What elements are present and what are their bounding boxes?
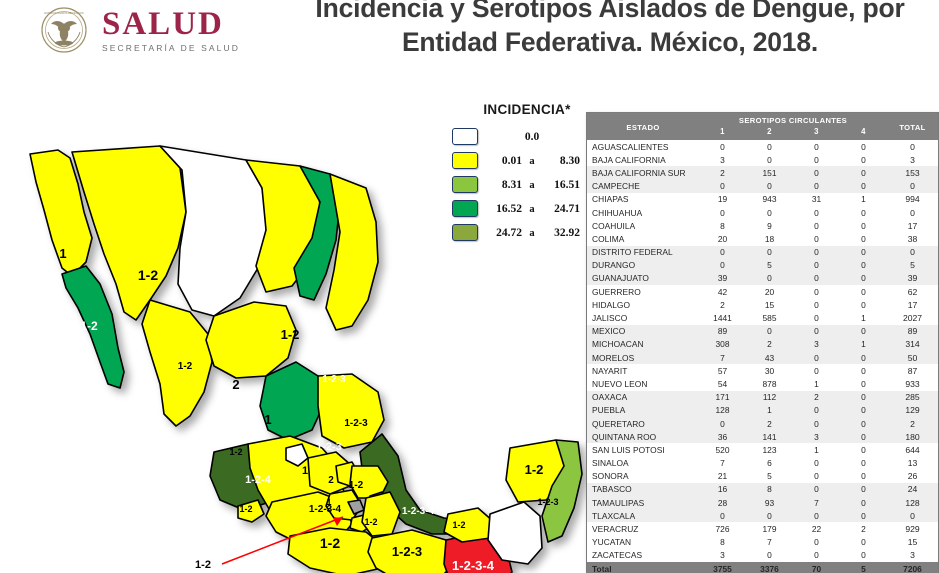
table-row[interactable]: COLIMA20180038 [587,232,938,245]
cell-serotype-1: 8 [699,536,746,549]
cell-estado: TAMAULIPAS [587,496,699,509]
cell-estado: QUERETARO [587,417,699,430]
legend-row: 0.0 [452,125,584,148]
table-row[interactable]: SINALOA760013 [587,457,938,470]
map-state-serotype-label: 1-2-3-4 [309,504,342,515]
cell-estado: VERACRUZ [587,522,699,535]
cell-serotype-3: 22 [793,522,840,535]
cell-serotype-1: 20 [699,232,746,245]
cell-total: 3 [887,153,938,166]
cell-estado: TLAXCALA [587,509,699,522]
map-state-serotype-label: 1-2-3-4 [402,506,435,517]
cell-serotype-1: 520 [699,443,746,456]
cell-serotype-3: 0 [793,536,840,549]
cell-serotype-4: 0 [840,536,887,549]
cell-serotype-2: 112 [746,391,793,404]
legend-range-low: 16.52 [484,203,522,215]
cell-serotype-4: 0 [840,391,887,404]
legend-range-high: 32.92 [542,227,580,239]
legend-range-labels: 8.31a16.51 [484,179,582,191]
cell-serotype-3: 0 [793,206,840,219]
cell-total: 62 [887,285,938,298]
legend-row: 0.01a8.30 [452,149,584,172]
table-head: ESTADO SEROTIPOS CIRCULANTES TOTAL 1 2 3… [587,113,938,140]
table-row[interactable]: CAMPECHE00000 [587,180,938,193]
cell-serotype-2: 0 [746,509,793,522]
cell-serotype-3: 3 [793,338,840,351]
cell-serotype-4: 0 [840,377,887,390]
cell-serotype-4: 0 [840,430,887,443]
cell-estado: OAXACA [587,391,699,404]
cell-estado: JALISCO [587,311,699,324]
cell-serotype-3: 0 [793,470,840,483]
cell-serotype-4: 0 [840,259,887,272]
cell-serotype-1: 308 [699,338,746,351]
cell-serotype-3: 0 [793,180,840,193]
map-state-serotype-label: 1-2 [80,319,98,333]
table-head-group-row: ESTADO SEROTIPOS CIRCULANTES TOTAL [587,113,938,126]
th-estado: ESTADO [587,113,699,140]
cell-serotype-4: 0 [840,509,887,522]
table-row[interactable]: NAYARIT57300087 [587,364,938,377]
cell-total-serotype-4: 5 [840,562,887,573]
cell-serotype-2: 179 [746,522,793,535]
mexico-eagle-seal-icon: ESTADOS UNIDOS MEXICANOS [40,6,88,54]
legend-range-low: 0.01 [484,155,522,167]
cell-total: 38 [887,232,938,245]
cell-serotype-3: 0 [793,232,840,245]
incidence-legend: INCIDENCIA* 0.00.01a8.308.31a16.5116.52a… [452,102,584,262]
map-state-serotype-label: 1-2 [239,504,252,514]
map-state-serotype-label: 1 [326,497,331,507]
cell-serotype-1: 39 [699,272,746,285]
table-row[interactable]: JALISCO1441585012027 [587,311,938,324]
cell-serotype-2: 20 [746,285,793,298]
cell-serotype-1: 28 [699,496,746,509]
cell-estado: MORELOS [587,351,699,364]
map-state-serotype-label: 1-2-3-4 [452,558,495,573]
state-zacatecas [260,362,324,440]
cell-estado: ZACATECAS [587,549,699,562]
cell-total: 50 [887,351,938,364]
header-bar: ESTADOS UNIDOS MEXICANOS SALUD SECRETARÍ… [0,0,939,62]
cell-total: 17 [887,219,938,232]
cell-estado: CAMPECHE [587,180,699,193]
cell-serotype-1: 171 [699,391,746,404]
cell-estado: COLIMA [587,232,699,245]
cell-serotype-2: 0 [746,140,793,153]
cell-total: 2027 [887,311,938,324]
cell-estado: MICHOACAN [587,338,699,351]
cell-serotype-4: 1 [840,193,887,206]
cell-serotype-3: 0 [793,417,840,430]
cell-total: 933 [887,377,938,390]
cell-serotype-1: 0 [699,140,746,153]
cell-grand-total: 7206 [887,562,938,573]
legend-range-high: 24.71 [542,203,580,215]
legend-range-high: 8.30 [542,155,580,167]
map-state-serotype-label: 1 [264,412,271,427]
cell-estado: NUEVO LEON [587,377,699,390]
cell-estado: CHIAPAS [587,193,699,206]
map-state-serotype-label: 1-2 [364,517,377,527]
legend-range-separator: a [522,204,542,215]
cell-serotype-3: 0 [793,364,840,377]
map-state-serotype-label: 1 [302,465,308,477]
cell-total-serotype-2: 3376 [746,562,793,573]
cell-total: 153 [887,166,938,179]
cell-serotype-4: 2 [840,522,887,535]
cell-total: 0 [887,509,938,522]
legend-row: 24.72a32.92 [452,221,584,244]
map-state-serotype-label: 1-2 [320,535,340,551]
cell-serotype-2: 878 [746,377,793,390]
cell-serotype-4: 0 [840,206,887,219]
table-row[interactable]: TAMAULIPAS289370128 [587,496,938,509]
cell-serotype-2: 0 [746,180,793,193]
map-state-serotype-label: 1-2 [525,462,544,477]
cell-estado: CHIHUAHUA [587,206,699,219]
table-row[interactable]: SAN LUIS POTOSI52012310644 [587,443,938,456]
cell-serotype-1: 42 [699,285,746,298]
legend-color-swatch [452,200,478,217]
table-row[interactable]: QUERETARO02002 [587,417,938,430]
cell-total: 2 [887,417,938,430]
cell-estado: SONORA [587,470,699,483]
cell-serotype-3: 0 [793,153,840,166]
cell-serotype-4: 0 [840,443,887,456]
table-row[interactable]: YUCATAN870015 [587,536,938,549]
cell-estado: AGUASCALIENTES [587,140,699,153]
cell-estado: GUANAJUATO [587,272,699,285]
cell-serotype-1: 21 [699,470,746,483]
cell-estado: TABASCO [587,483,699,496]
cell-serotype-2: 30 [746,364,793,377]
cell-estado: BAJA CALIFORNIA SUR [587,166,699,179]
legend-range-high: 16.51 [542,179,580,191]
cell-serotype-4: 0 [840,351,887,364]
cell-serotype-4: 0 [840,298,887,311]
cell-serotype-1: 0 [699,509,746,522]
cell-estado: PUEBLA [587,404,699,417]
cell-serotype-4: 0 [840,140,887,153]
map-state-serotype-label: 1-2-3 [322,374,346,385]
cell-serotype-3: 0 [793,457,840,470]
legend-range-separator: a [522,156,542,167]
table-total-row: Total375533767057206 [587,562,938,573]
th-serotype-1: 1 [699,126,746,140]
logo-subtitle: SECRETARÍA DE SALUD [102,44,240,53]
th-serotype-4: 4 [840,126,887,140]
cell-total: 0 [887,140,938,153]
map-state-serotype-label: 1-2-3 [537,497,558,507]
legend-color-swatch [452,224,478,241]
map-state-serotype-label: 1-2-3 [392,544,422,559]
table-row[interactable]: DISTRITO FEDERAL00000 [587,246,938,259]
cell-total: 0 [887,206,938,219]
table-row[interactable]: OAXACA17111220285 [587,391,938,404]
cell-serotype-4: 0 [840,246,887,259]
cell-serotype-2: 0 [746,206,793,219]
table-row[interactable]: ZACATECAS30003 [587,549,938,562]
legend-range-separator: a [522,180,542,191]
cell-serotype-2: 123 [746,443,793,456]
cell-serotype-2: 6 [746,457,793,470]
cell-serotype-3: 7 [793,496,840,509]
cell-total: 180 [887,430,938,443]
cell-serotype-1: 0 [699,246,746,259]
cell-serotype-1: 0 [699,180,746,193]
cell-serotype-4: 0 [840,404,887,417]
legend-color-swatch [452,176,478,193]
cell-serotype-4: 0 [840,549,887,562]
cell-total: 87 [887,364,938,377]
cell-serotype-1: 16 [699,483,746,496]
table-row[interactable]: TABASCO1680024 [587,483,938,496]
cell-serotype-1: 36 [699,430,746,443]
cell-serotype-2: 8 [746,483,793,496]
map-state-serotype-label: 1-2-3 [316,441,342,453]
cell-serotype-3: 0 [793,351,840,364]
map-state-serotype-label: 1 [59,246,66,261]
cell-estado: HIDALGO [587,298,699,311]
map-state-serotype-label: 1-2-4 [245,474,272,486]
cell-serotype-4: 0 [840,219,887,232]
cell-serotype-1: 89 [699,325,746,338]
cell-total-serotype-1: 3755 [699,562,746,573]
serotypes-table: ESTADO SEROTIPOS CIRCULANTES TOTAL 1 2 3… [587,113,938,573]
legend-range-low: 8.31 [484,179,522,191]
cell-serotype-3: 1 [793,377,840,390]
cell-serotype-3: 0 [793,483,840,496]
cell-serotype-4: 0 [840,232,887,245]
table-row[interactable]: BAJA CALIFORNIA SUR215100153 [587,166,938,179]
cell-serotype-2: 93 [746,496,793,509]
cell-total: 285 [887,391,938,404]
cell-serotype-3: 0 [793,311,840,324]
table-row[interactable]: MICHOACAN308231314 [587,338,938,351]
cell-total: 89 [887,325,938,338]
cell-serotype-2: 141 [746,430,793,443]
cell-total: 314 [887,338,938,351]
cell-total: 17 [887,298,938,311]
cell-serotype-4: 1 [840,338,887,351]
th-serotype-2: 2 [746,126,793,140]
cell-serotype-2: 43 [746,351,793,364]
table-row[interactable]: VERACRUZ726179222929 [587,522,938,535]
cell-serotype-2: 15 [746,298,793,311]
state-san-luis-potosi [318,374,384,448]
cell-serotype-3: 0 [793,325,840,338]
cell-estado: QUINTANA ROO [587,430,699,443]
cell-total: 3 [887,549,938,562]
cell-serotype-2: 9 [746,219,793,232]
cell-serotype-2: 943 [746,193,793,206]
cell-estado: BAJA CALIFORNIA [587,153,699,166]
map-state-serotype-label: 1-2 [138,267,158,283]
map-state-serotype-label: 2 [232,377,239,392]
table-row[interactable]: NUEVO LEON5487810933 [587,377,938,390]
cell-serotype-4: 0 [840,364,887,377]
legend-range-labels: 0.0 [484,131,582,143]
cell-serotype-4: 0 [840,180,887,193]
table-row[interactable]: TLAXCALA00000 [587,509,938,522]
map-state-serotype-label: 1-2-3 [344,418,368,429]
cell-serotype-1: 7 [699,457,746,470]
table-row[interactable]: BAJA CALIFORNIA30003 [587,153,938,166]
cell-total: 929 [887,522,938,535]
legend-range-low: 24.72 [484,227,522,239]
logo-title: SALUD [102,8,240,41]
page-title: Incidencia y Serotipos Aislados de Dengu… [300,0,920,60]
cell-total: 5 [887,259,938,272]
table-row[interactable]: QUINTANA ROO3614130180 [587,430,938,443]
cell-serotype-1: 8 [699,219,746,232]
cell-serotype-3: 0 [793,272,840,285]
cell-serotype-3: 0 [793,404,840,417]
legend-title: INCIDENCIA* [452,102,584,117]
cell-serotype-1: 128 [699,404,746,417]
cell-total: 0 [887,180,938,193]
cell-serotype-3: 0 [793,140,840,153]
cell-serotype-2: 0 [746,549,793,562]
cell-serotype-1: 19 [699,193,746,206]
cell-estado: DURANGO [587,259,699,272]
map-state-serotype-label: 1-2 [178,361,193,372]
table-body: AGUASCALIENTES00000BAJA CALIFORNIA30003B… [587,140,938,573]
cell-serotype-2: 7 [746,536,793,549]
cell-serotype-3: 0 [793,549,840,562]
cell-serotype-1: 1441 [699,311,746,324]
state-tamaulipas [326,174,378,330]
table-row[interactable]: CHIAPAS19943311994 [587,193,938,206]
cell-serotype-1: 0 [699,417,746,430]
cell-total: 26 [887,470,938,483]
cell-serotype-3: 3 [793,430,840,443]
cell-serotype-2: 151 [746,166,793,179]
legend-color-swatch [452,128,478,145]
cell-serotype-1: 57 [699,364,746,377]
cell-total: 0 [887,246,938,259]
cell-serotype-1: 2 [699,166,746,179]
cell-serotype-4: 0 [840,325,887,338]
legend-range-labels: 24.72a32.92 [484,227,582,239]
table-row[interactable]: HIDALGO2150017 [587,298,938,311]
cell-serotype-4: 0 [840,417,887,430]
cell-serotype-2: 5 [746,470,793,483]
cell-estado: MEXICO [587,325,699,338]
cell-estado: NAYARIT [587,364,699,377]
th-serotype-3: 3 [793,126,840,140]
cell-total: 13 [887,457,938,470]
cell-estado: SINALOA [587,457,699,470]
table-row[interactable]: GUANAJUATO3900039 [587,272,938,285]
legend-value: 0.0 [484,131,580,143]
map-state-serotype-label: 1-2 [452,520,465,530]
table-row[interactable]: MORELOS7430050 [587,351,938,364]
cell-serotype-2: 585 [746,311,793,324]
salud-logo: ESTADOS UNIDOS MEXICANOS SALUD SECRETARÍ… [40,2,240,58]
cell-serotype-2: 18 [746,232,793,245]
legend-color-swatch [452,152,478,169]
table-row[interactable]: AGUASCALIENTES00000 [587,140,938,153]
cell-total: 994 [887,193,938,206]
cell-serotype-1: 3 [699,549,746,562]
cell-serotype-3: 0 [793,246,840,259]
legend-rows: 0.00.01a8.308.31a16.5116.52a24.7124.72a3… [452,125,584,244]
table-row[interactable]: PUEBLA128100129 [587,404,938,417]
cell-serotype-3: 0 [793,259,840,272]
slide-root: ESTADOS UNIDOS MEXICANOS SALUD SECRETARÍ… [0,0,939,573]
cell-serotype-2: 2 [746,417,793,430]
cell-serotype-4: 0 [840,483,887,496]
map-state-serotype-label: 1-2 [349,480,364,491]
cell-serotype-3: 0 [793,509,840,522]
cell-serotype-1: 3 [699,153,746,166]
cell-serotype-4: 0 [840,470,887,483]
cell-serotype-3: 0 [793,285,840,298]
cell-total-label: Total [587,562,699,573]
cell-estado: SAN LUIS POTOSI [587,443,699,456]
legend-row: 8.31a16.51 [452,173,584,196]
cell-total: 128 [887,496,938,509]
cell-total: 15 [887,536,938,549]
table-row[interactable]: MEXICO8900089 [587,325,938,338]
cell-serotype-1: 7 [699,351,746,364]
cell-serotype-3: 2 [793,391,840,404]
cell-total: 39 [887,272,938,285]
th-serotipos-circulantes: SEROTIPOS CIRCULANTES [699,113,887,126]
cell-serotype-1: 2 [699,298,746,311]
table-row[interactable]: SONORA2150026 [587,470,938,483]
cell-serotype-4: 0 [840,153,887,166]
cell-serotype-4: 0 [840,285,887,298]
cell-serotype-3: 0 [793,219,840,232]
cell-serotype-4: 0 [840,272,887,285]
legend-range-labels: 0.01a8.30 [484,155,582,167]
map-state-serotype-label: 1-2 [229,447,242,457]
table-row[interactable]: COAHUILA890017 [587,219,938,232]
cell-serotype-4: 0 [840,496,887,509]
table-row[interactable]: DURANGO05005 [587,259,938,272]
logo-wordmark: SALUD SECRETARÍA DE SALUD [102,8,240,53]
cell-estado: YUCATAN [587,536,699,549]
cell-total: 24 [887,483,938,496]
cell-serotype-3: 31 [793,193,840,206]
cell-serotype-1: 54 [699,377,746,390]
map-callout-label: 1-2 [195,559,211,571]
cell-serotype-4: 0 [840,166,887,179]
table-row[interactable]: GUERRERO42200062 [587,285,938,298]
table-row[interactable]: CHIHUAHUA00000 [587,206,938,219]
cell-serotype-2: 0 [746,272,793,285]
cell-serotype-1: 726 [699,522,746,535]
cell-serotype-3: 0 [793,298,840,311]
cell-serotype-2: 1 [746,404,793,417]
cell-serotype-2: 0 [746,246,793,259]
cell-estado: DISTRITO FEDERAL [587,246,699,259]
cell-total: 644 [887,443,938,456]
map-state-serotype-label: 2 [328,475,334,486]
cell-serotype-4: 1 [840,311,887,324]
cell-serotype-2: 2 [746,338,793,351]
cell-estado: GUERRERO [587,285,699,298]
cell-serotype-4: 0 [840,457,887,470]
map-state-serotype-label: 1-2 [281,327,300,342]
svg-text:ESTADOS UNIDOS MEXICANOS: ESTADOS UNIDOS MEXICANOS [44,11,84,15]
cell-serotype-3: 1 [793,443,840,456]
cell-serotype-2: 0 [746,325,793,338]
